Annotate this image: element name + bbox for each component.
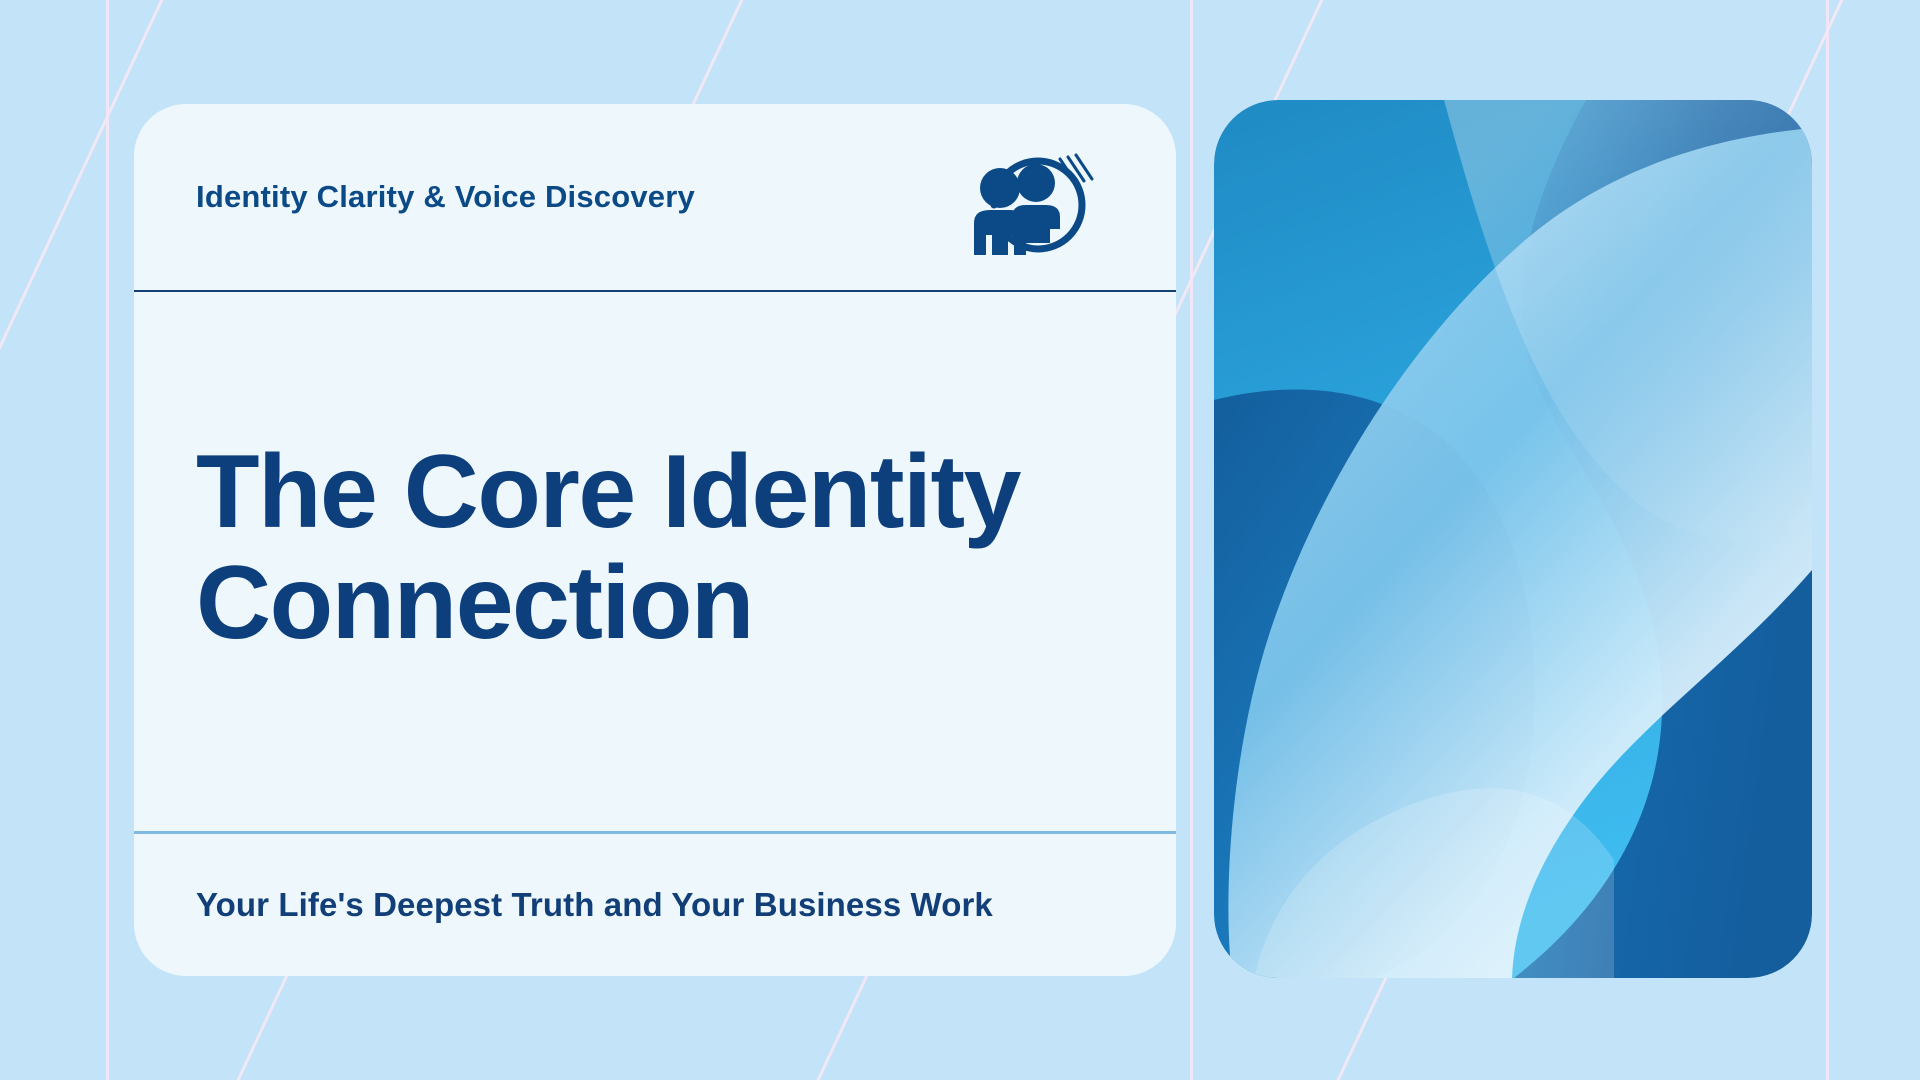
vertical-line-right (1826, 0, 1829, 1080)
people-in-circle-icon (964, 131, 1114, 263)
card-subtitle-label: Your Life's Deepest Truth and Your Busin… (196, 886, 993, 924)
card-eyebrow-label: Identity Clarity & Voice Discovery (196, 179, 695, 215)
card-header: Identity Clarity & Voice Discovery (134, 104, 1176, 290)
vertical-line-left (106, 0, 109, 1080)
info-card: Identity Clarity & Voice Discovery (134, 104, 1176, 976)
card-body: The Core Identity Connection (134, 292, 1176, 831)
page-title: The Core Identity Connection (196, 437, 1026, 657)
vertical-line-middle (1190, 0, 1193, 1080)
card-footer: Your Life's Deepest Truth and Your Busin… (134, 834, 1176, 976)
slide-canvas: Identity Clarity & Voice Discovery (0, 0, 1920, 1080)
abstract-wave-graphic (1214, 100, 1812, 978)
